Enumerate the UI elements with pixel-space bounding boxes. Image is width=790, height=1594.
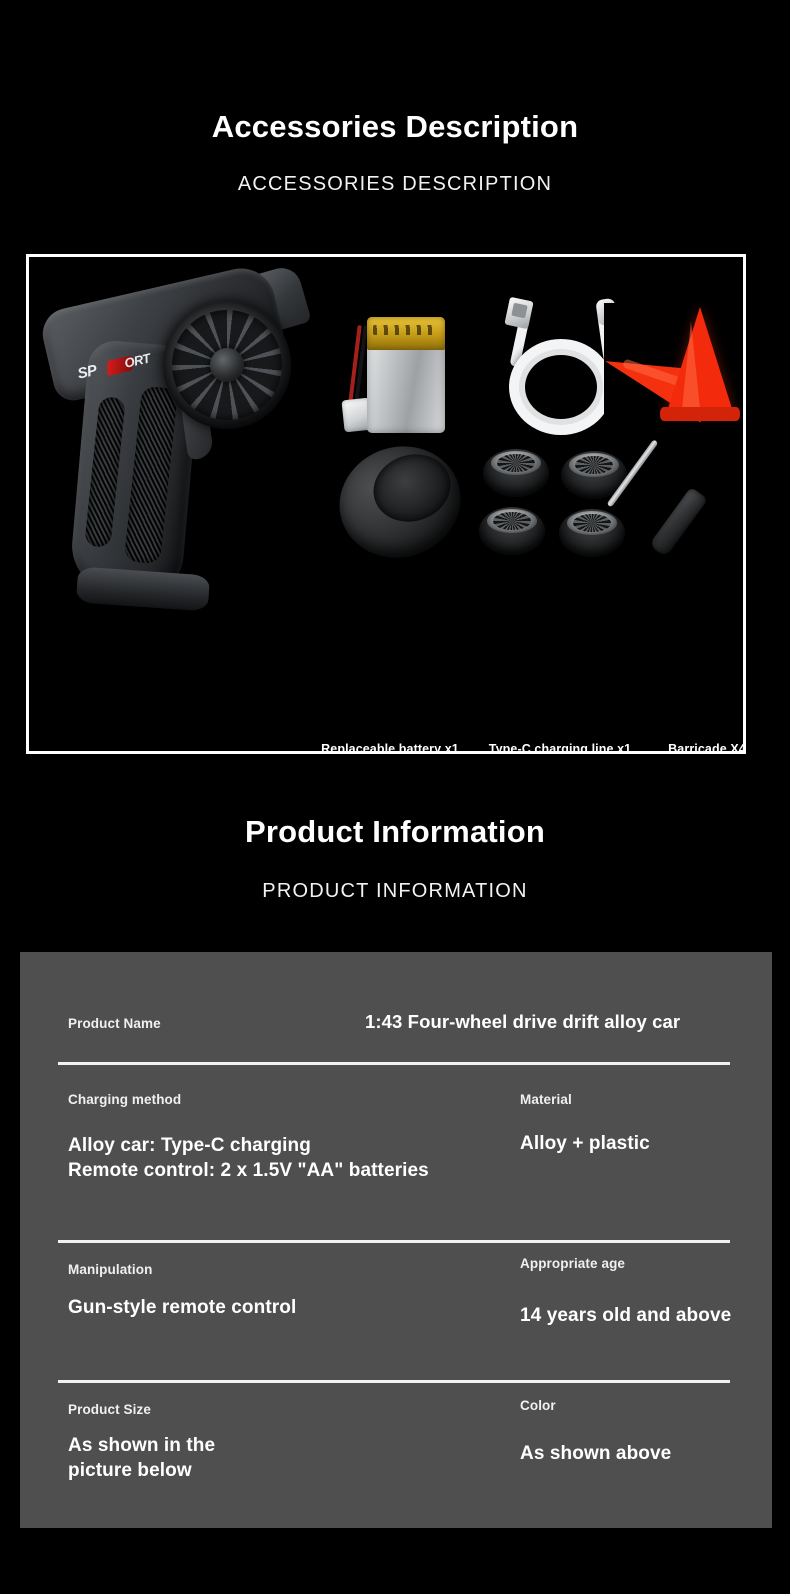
table-separator	[58, 1062, 730, 1065]
battery-kapton-tape	[367, 317, 445, 350]
table-separator	[58, 1380, 730, 1383]
product-section-header: Product Information PRODUCT INFORMATION	[0, 815, 790, 902]
row-value-manipulation: Gun-style remote control	[68, 1296, 298, 1321]
cable-coil-inner	[519, 349, 603, 425]
row-label-product-name: Product Name	[68, 1016, 161, 1033]
cone-upright-base	[660, 407, 740, 421]
tire-icon	[559, 509, 625, 557]
accessory-label-charging-cable: Type-C charging line x1	[475, 742, 645, 754]
row-value-material: Alloy + plastic	[520, 1132, 650, 1157]
charging-method-line-1: Alloy car: Type-C charging	[68, 1134, 429, 1159]
row-label-material: Material	[520, 1092, 572, 1109]
product-information-table: Product Name 1:43 Four-wheel drive drift…	[20, 952, 772, 1528]
row-value-product-name: 1:43 Four-wheel drive drift alloy car	[365, 1010, 680, 1034]
row-label-appropriate-age: Appropriate age	[520, 1256, 630, 1273]
remote-base	[76, 566, 210, 611]
logo-text-sp: SP	[76, 362, 98, 383]
row-label-manipulation: Manipulation	[68, 1262, 152, 1279]
remote-control-image: SP ORT	[37, 269, 307, 644]
accessories-title: Accessories Description	[0, 110, 790, 144]
steering-wheel-icon	[163, 301, 291, 429]
accessory-label-barricade: Barricade X4	[642, 742, 746, 754]
screwdriver-handle	[649, 487, 708, 558]
logo-text-ort: ORT	[123, 350, 151, 370]
row-value-color: As shown above	[520, 1442, 671, 1467]
accessory-label-battery: Replaceable battery x1	[305, 742, 475, 754]
row-label-charging-method: Charging method	[68, 1092, 181, 1109]
accessories-section-header: Accessories Description ACCESSORIES DESC…	[0, 110, 790, 195]
wheel-cover-image	[339, 443, 464, 565]
charging-method-line-2: Remote control: 2 x 1.5V "AA" batteries	[68, 1159, 429, 1184]
barricade-cones-image	[604, 303, 744, 439]
row-value-appropriate-age: 14 years old and above	[520, 1304, 731, 1329]
battery-image	[339, 309, 457, 437]
screwdriver-image	[639, 437, 746, 567]
cone-upright-highlight	[682, 321, 700, 409]
accessories-subtitle: ACCESSORIES DESCRIPTION	[0, 173, 790, 195]
row-label-color: Color	[520, 1398, 556, 1415]
spare-tires-image	[479, 449, 631, 565]
tire-icon	[483, 449, 549, 497]
tire-icon	[479, 507, 545, 555]
accessories-image-frame: SP ORT	[26, 254, 746, 754]
product-subtitle: PRODUCT INFORMATION	[0, 880, 790, 902]
usb-a-plug-icon	[504, 297, 533, 329]
table-separator	[58, 1240, 730, 1243]
row-label-product-size: Product Size	[68, 1402, 151, 1419]
product-title: Product Information	[0, 815, 790, 849]
row-value-product-size: As shown in the picture below	[68, 1434, 258, 1483]
row-value-charging-method: Alloy car: Type-C charging Remote contro…	[68, 1134, 429, 1183]
cone-upright	[666, 307, 734, 415]
